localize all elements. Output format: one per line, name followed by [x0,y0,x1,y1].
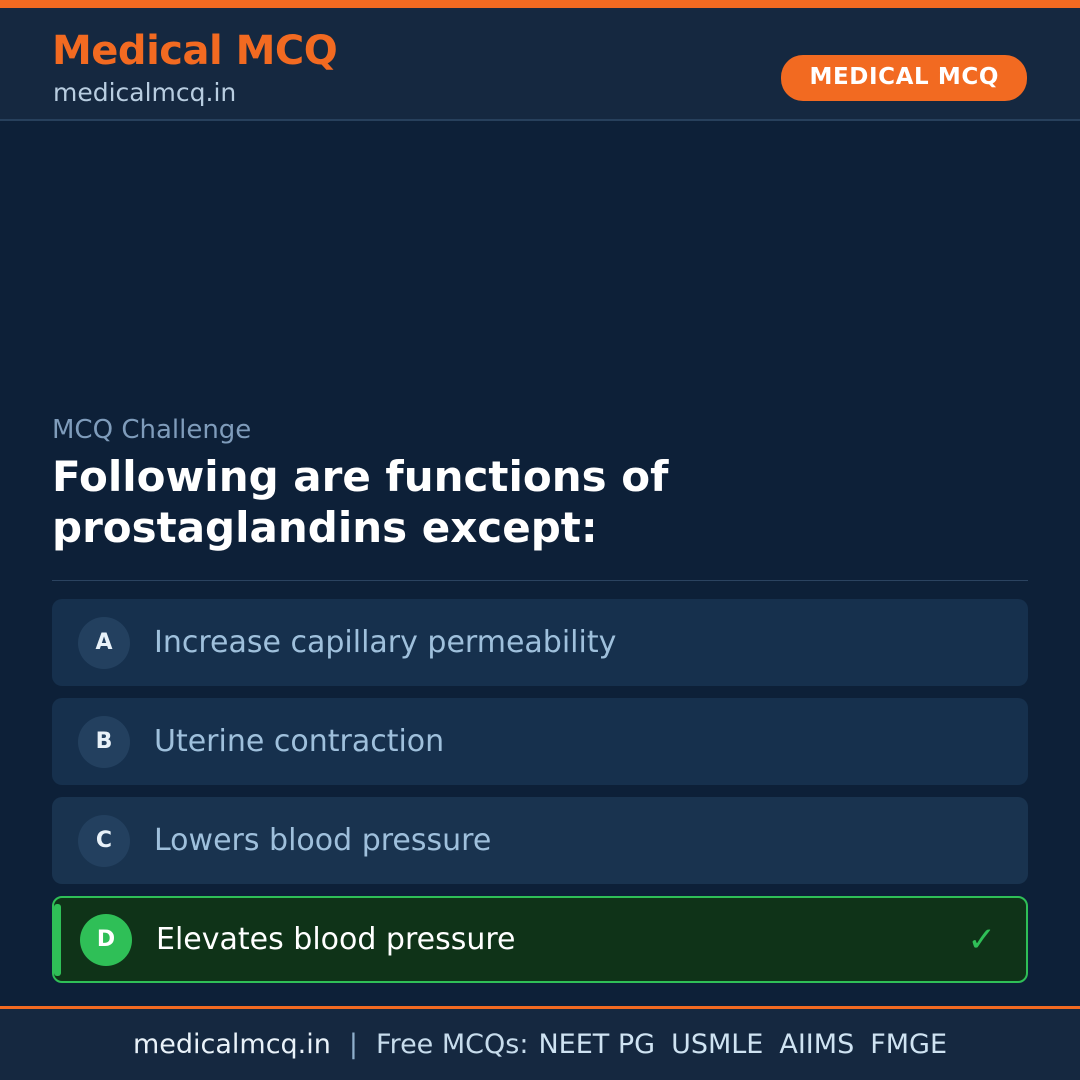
option-a[interactable]: A Increase capillary permeability [52,599,1028,686]
option-a-text: Increase capillary permeability [154,625,616,660]
main-content: MCQ Challenge Following are functions of… [0,121,1080,1006]
brand-badge: MEDICAL MCQ [781,55,1027,101]
correct-indicator-bar [54,904,61,976]
option-b-text: Uterine contraction [154,724,444,759]
option-b-letter: B [78,716,130,768]
option-d-text: Elevates blood pressure [156,922,516,957]
option-c-letter: C [78,815,130,867]
option-d-letter: D [80,914,132,966]
top-accent-bar [0,0,1080,8]
footer-tag-usmle: USMLE [671,1029,763,1060]
option-c[interactable]: C Lowers blood pressure [52,797,1028,884]
question-text: Following are functions of prostaglandin… [52,451,1032,553]
option-d[interactable]: D Elevates blood pressure ✓ [52,896,1028,983]
footer-content: medicalmcq.in | Free MCQs: NEET PG USMLE… [133,1029,947,1060]
question-divider [52,580,1028,581]
option-b[interactable]: B Uterine contraction [52,698,1028,785]
footer-tag-aiims: AIIMS [779,1029,854,1060]
option-c-text: Lowers blood pressure [154,823,491,858]
footer-tag-neet-pg: NEET PG [538,1029,655,1060]
mcq-card: Medical MCQ medicalmcq.in MEDICAL MCQ MC… [0,0,1080,1080]
option-a-letter: A [78,617,130,669]
header: Medical MCQ medicalmcq.in MEDICAL MCQ [0,8,1080,121]
footer-label: Free MCQs: [376,1029,528,1060]
options-list: A Increase capillary permeability B Uter… [52,599,1028,995]
footer-tag-fmge: FMGE [870,1029,947,1060]
brand-subtitle: medicalmcq.in [53,78,236,107]
checkmark-icon: ✓ [968,923,997,957]
brand-title: Medical MCQ [52,28,337,74]
eyebrow-label: MCQ Challenge [52,415,251,445]
footer: medicalmcq.in | Free MCQs: NEET PG USMLE… [0,1006,1080,1080]
footer-site: medicalmcq.in [133,1029,331,1060]
footer-separator: | [349,1029,358,1060]
